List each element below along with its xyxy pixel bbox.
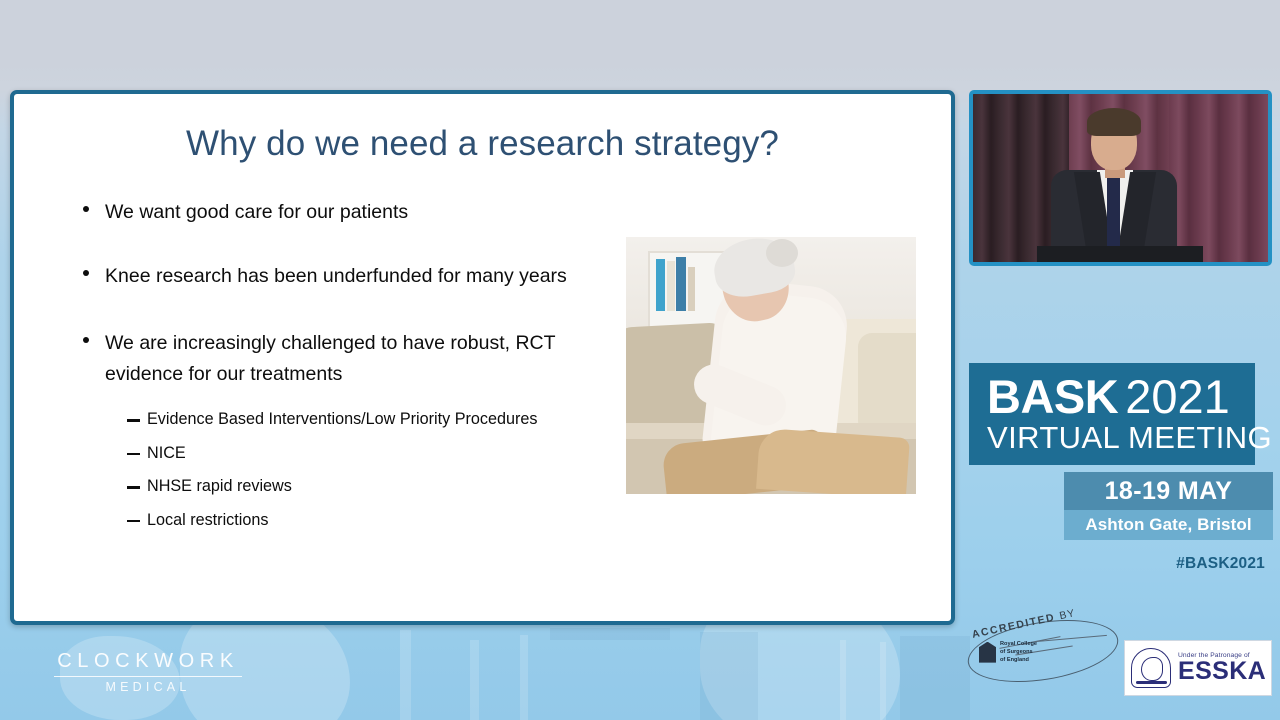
accreditation-block: ACCREDITED BY Royal College of Surgeons …: [963, 612, 1143, 692]
bullet-dot-icon: [83, 206, 89, 212]
background-watermark-column: [520, 635, 528, 720]
dash-icon: [127, 453, 140, 456]
dash-icon: [127, 486, 140, 489]
photo-person-leg: [756, 428, 910, 494]
slide-photo-knee-pain: [626, 237, 916, 494]
bullet-item: Knee research has been underfunded for m…: [76, 261, 621, 292]
sub-bullet-item: Local restrictions: [127, 504, 621, 538]
bask-dates-bar: 18-19 MAY: [1064, 472, 1273, 510]
background-watermark-column: [880, 642, 886, 720]
photo-book: [667, 261, 675, 311]
background-watermark-ledge: [550, 628, 670, 640]
bullet-dot-icon: [83, 337, 89, 343]
rcs-crest-icon: [979, 642, 996, 663]
bullet-text: We want good care for our patients: [105, 201, 408, 223]
photo-book: [656, 259, 665, 311]
dash-icon: [127, 419, 140, 422]
slide-panel[interactable]: Why do we need a research strategy? We w…: [10, 90, 955, 625]
bask-logo-title-row: BASK2021: [987, 374, 1255, 419]
slide-title: Why do we need a research strategy?: [14, 124, 951, 164]
sub-bullet-item: Evidence Based Interventions/Low Priorit…: [127, 403, 621, 437]
speaker-hair: [1087, 108, 1141, 136]
bask-venue-text: Ashton Gate, Bristol: [1085, 515, 1251, 535]
clockwork-subtitle: MEDICAL: [48, 680, 248, 694]
bask-wordmark: BASK: [987, 370, 1118, 423]
clockwork-medical-logo: CLOCKWORK MEDICAL: [48, 650, 248, 694]
photo-cushion: [858, 333, 916, 435]
esska-text-block: Under the Patronage of ESSKA: [1178, 652, 1266, 684]
esska-logo-block: Under the Patronage of ESSKA: [1124, 640, 1272, 696]
photo-book: [676, 257, 686, 311]
esska-wordmark: ESSKA: [1178, 659, 1266, 684]
rcs-line-1: Royal College: [1000, 640, 1037, 648]
rcs-line-2: of Surgeons: [1000, 648, 1037, 656]
sub-bullet-item: NICE: [127, 437, 621, 471]
esska-emblem-icon: [1131, 648, 1171, 688]
bask-venue-bar: Ashton Gate, Bristol: [1064, 510, 1273, 540]
presenter-video-feed[interactable]: [969, 90, 1272, 266]
rcs-line-3: of England: [1000, 656, 1037, 664]
slide-bullet-list: We want good care for our patients Knee …: [76, 197, 621, 537]
clockwork-divider: [54, 676, 242, 677]
sub-bullet-text: Local restrictions: [147, 511, 268, 529]
bask-hashtag: #BASK2021: [969, 555, 1273, 573]
bask-year: 2021: [1125, 370, 1230, 423]
bask-logo-main: BASK2021 VIRTUAL MEETING: [969, 363, 1255, 465]
background-watermark-column: [400, 630, 411, 720]
sub-bullet-text: Evidence Based Interventions/Low Priorit…: [147, 410, 538, 428]
background-watermark-column: [470, 640, 479, 720]
bask-dates-text: 18-19 MAY: [1105, 477, 1233, 506]
background-watermark-tower: [700, 632, 758, 720]
sub-bullet-text: NICE: [147, 444, 186, 462]
background-watermark-tower: [900, 636, 970, 720]
sub-bullet-list: Evidence Based Interventions/Low Priorit…: [105, 403, 621, 537]
clockwork-wordmark: CLOCKWORK: [48, 650, 248, 673]
photo-person-hair-bun: [766, 239, 798, 267]
speaker-podium: [1037, 246, 1203, 266]
video-curtain-right: [1169, 94, 1268, 262]
sub-bullet-text: NHSE rapid reviews: [147, 477, 292, 495]
bask-subtitle: VIRTUAL MEETING: [987, 421, 1255, 456]
bullet-text: Knee research has been underfunded for m…: [105, 265, 567, 287]
dash-icon: [127, 520, 140, 523]
photo-book: [688, 267, 695, 311]
background-watermark-column: [840, 640, 846, 720]
bullet-item: We are increasingly challenged to have r…: [76, 328, 621, 537]
bask-logo-block: BASK2021 VIRTUAL MEETING 18-19 MAY Ashto…: [969, 363, 1273, 465]
bullet-item: We want good care for our patients: [76, 197, 621, 228]
bullet-dot-icon: [83, 270, 89, 276]
sub-bullet-item: NHSE rapid reviews: [127, 470, 621, 504]
royal-college-of-surgeons-logo: Royal College of Surgeons of England: [979, 640, 1037, 664]
speaker-tie: [1107, 178, 1120, 256]
rcs-name: Royal College of Surgeons of England: [1000, 640, 1037, 664]
presentation-stage: Why do we need a research strategy? We w…: [0, 0, 1280, 720]
bullet-text: We are increasingly challenged to have r…: [105, 332, 555, 385]
